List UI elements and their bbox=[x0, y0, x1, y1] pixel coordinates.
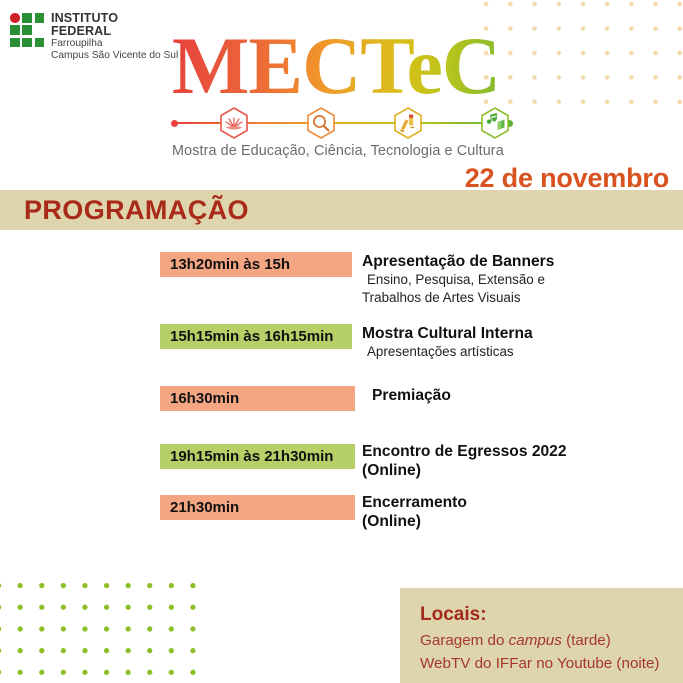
instituto-federal-pixel-grid-icon bbox=[10, 13, 44, 47]
magnifier-icon bbox=[304, 106, 338, 140]
schedule-event-block: Mostra Cultural Interna Apresentações ar… bbox=[362, 324, 672, 361]
decorative-dot-grid-bottom-left bbox=[0, 583, 206, 683]
locais-line1-prefix: Garagem do bbox=[420, 632, 509, 649]
schedule-time-chip: 13h20min às 15h bbox=[160, 252, 352, 277]
schedule-time-chip: 19h15min às 21h30min bbox=[160, 444, 355, 469]
programacao-title: PROGRAMAÇÃO bbox=[24, 195, 249, 226]
schedule-time-chip: 16h30min bbox=[160, 386, 355, 411]
instituto-federal-wordmark: INSTITUTO FEDERAL Farroupilha Campus São… bbox=[51, 12, 180, 63]
mectec-wordmark: MECTeC bbox=[172, 22, 522, 110]
schedule-event-block: Premiação bbox=[372, 386, 682, 405]
rail-endpoint-left-icon bbox=[171, 120, 178, 127]
schedule-event-title: Encontro de Egressos 2022 bbox=[362, 442, 672, 461]
schedule-event-subtitle: Ensino, Pesquisa, Extensão e bbox=[362, 271, 672, 289]
institution-name: INSTITUTO FEDERAL bbox=[51, 12, 180, 38]
schedule-event-block: Apresentação de Banners Ensino, Pesquisa… bbox=[362, 252, 672, 307]
schedule-event-title: Premiação bbox=[372, 386, 682, 405]
theme-icon-rail bbox=[172, 106, 512, 140]
locais-box: Locais: Garagem do campus (tarde) WebTV … bbox=[400, 588, 683, 683]
music-notes-icon bbox=[478, 106, 512, 140]
poster-header: INSTITUTO FEDERAL Farroupilha Campus São… bbox=[0, 0, 683, 170]
event-program-poster: INSTITUTO FEDERAL Farroupilha Campus São… bbox=[0, 0, 683, 683]
instituto-federal-logo: INSTITUTO FEDERAL Farroupilha Campus São… bbox=[10, 12, 180, 58]
locais-line1-italic: campus bbox=[509, 632, 562, 649]
schedule-time-chip: 21h30min bbox=[160, 495, 355, 520]
schedule-event-block: Encontro de Egressos 2022 (Online) bbox=[362, 442, 672, 480]
schedule-event-subtitle: (Online) bbox=[362, 512, 672, 531]
schedule-event-block: Encerramento (Online) bbox=[362, 493, 672, 531]
schedule-event-title: Apresentação de Banners bbox=[362, 252, 672, 271]
locais-line1-suffix: (tarde) bbox=[562, 632, 611, 649]
open-book-icon bbox=[217, 106, 251, 140]
institution-campus: Campus São Vicente do Sul bbox=[51, 50, 180, 62]
locais-title: Locais: bbox=[420, 604, 487, 626]
experiment-flask-icon bbox=[391, 106, 425, 140]
mectec-wordmark-container: MECTeC bbox=[172, 22, 522, 112]
schedule-event-subtitle: Trabalhos de Artes Visuais bbox=[362, 289, 672, 307]
schedule-time-chip: 15h15min às 16h15min bbox=[160, 324, 352, 349]
programacao-banner: PROGRAMAÇÃO bbox=[0, 190, 683, 230]
locais-line-afternoon: Garagem do campus (tarde) bbox=[420, 632, 611, 649]
schedule-event-subtitle: Apresentações artísticas bbox=[362, 343, 672, 361]
schedule-event-title: Encerramento bbox=[362, 493, 672, 512]
institution-unit: Farroupilha bbox=[51, 38, 180, 50]
schedule-event-subtitle: (Online) bbox=[362, 461, 672, 480]
schedule-event-title: Mostra Cultural Interna bbox=[362, 324, 672, 343]
event-tagline: Mostra de Educação, Ciência, Tecnologia … bbox=[172, 143, 504, 159]
locais-line-evening: WebTV do IFFar no Youtube (noite) bbox=[420, 655, 659, 672]
